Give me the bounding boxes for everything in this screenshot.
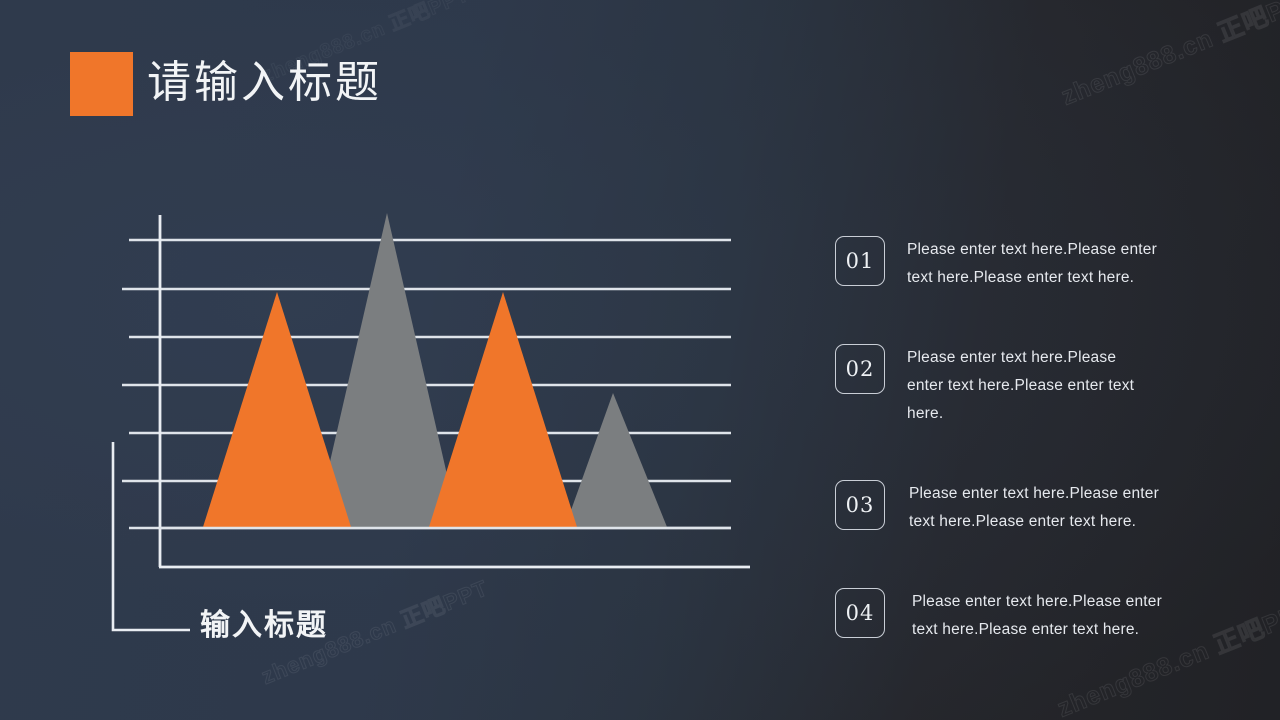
- chart-series-triangles: [203, 213, 667, 527]
- list-item[interactable]: 01 Please enter text here.Please enter t…: [835, 236, 1255, 292]
- chart: [0, 0, 800, 720]
- bar-triangle-4: [565, 393, 667, 527]
- bullet-text: Please enter text here.Please enter text…: [909, 480, 1159, 536]
- bullet-text: Please enter text here.Please enter text…: [907, 236, 1157, 292]
- chart-caption: 输入标题: [200, 600, 328, 644]
- bullet-number-badge: 02: [835, 344, 885, 394]
- list-item[interactable]: 04 Please enter text here.Please enter t…: [835, 588, 1255, 644]
- list-item[interactable]: 03 Please enter text here.Please enter t…: [835, 480, 1255, 536]
- watermark-top-right: zheng888.cn 正吧PPT: [1055, 0, 1280, 113]
- bar-triangle-3: [429, 292, 577, 527]
- bar-triangle-2: [315, 213, 459, 527]
- bullet-text: Please enter text here.Please enter text…: [907, 344, 1155, 428]
- caption-bracket: [113, 442, 190, 630]
- bullet-list: 01 Please enter text here.Please enter t…: [835, 236, 1255, 644]
- list-item[interactable]: 02 Please enter text here.Please enter t…: [835, 344, 1255, 428]
- bullet-number-badge: 03: [835, 480, 885, 530]
- bullet-text: Please enter text here.Please enter text…: [912, 588, 1162, 644]
- chart-svg: [0, 0, 800, 720]
- bullet-number-badge: 01: [835, 236, 885, 286]
- bar-triangle-1: [203, 292, 351, 527]
- slide-canvas: zheng888.cn 正吧PPT zheng888.cn 正吧PPT zhen…: [0, 0, 1280, 720]
- bullet-number-badge: 04: [835, 588, 885, 638]
